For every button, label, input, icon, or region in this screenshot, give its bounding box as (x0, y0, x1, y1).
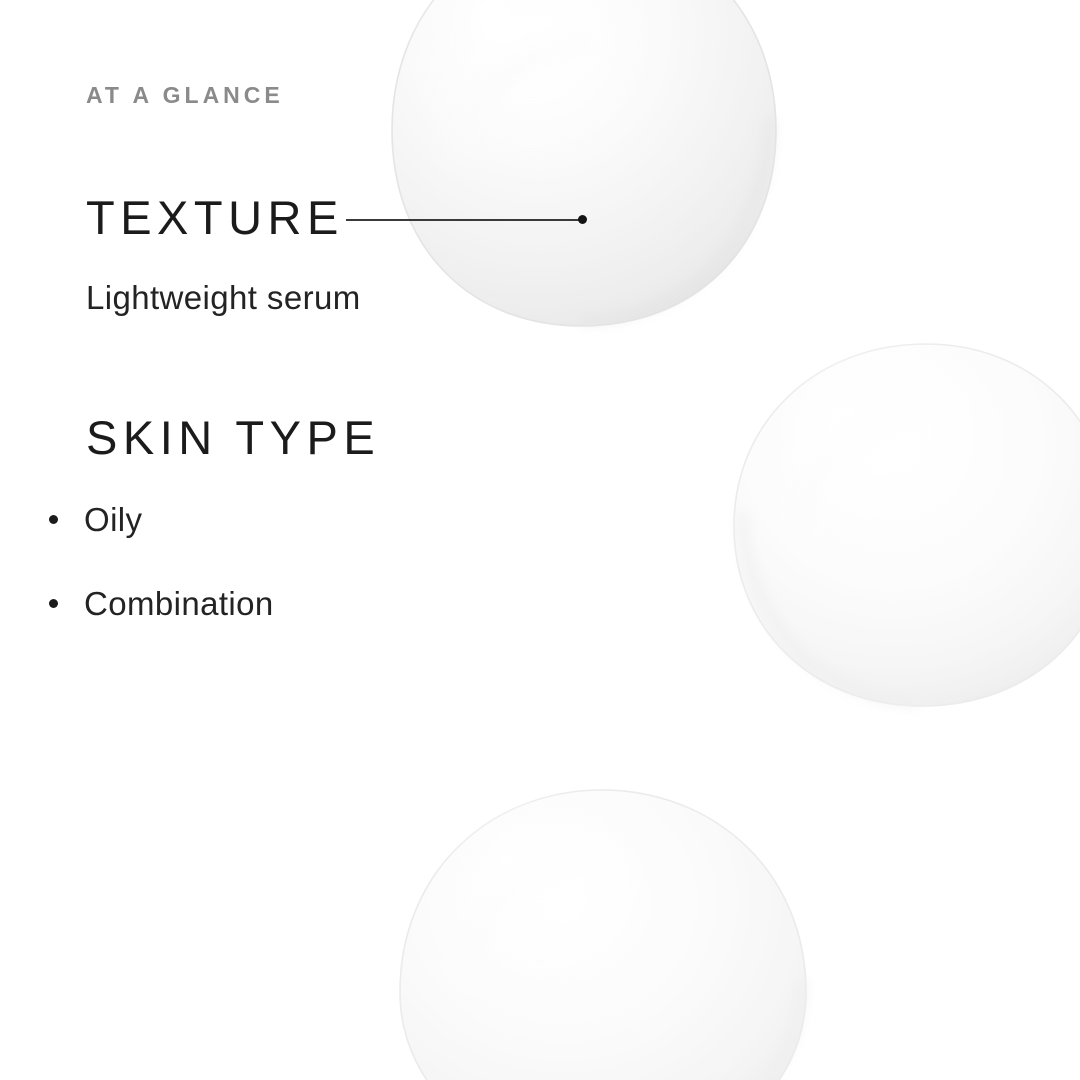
info-panel: AT A GLANCE TEXTURE Lightweight serum SK… (0, 0, 1080, 1080)
bullet-dot-icon (49, 515, 58, 524)
list-item: Combination (46, 584, 274, 624)
callout-line (346, 219, 584, 221)
list-item-label: Oily (84, 501, 142, 538)
skin-type-heading: SKIN TYPE (86, 414, 380, 461)
texture-heading: TEXTURE (86, 194, 344, 241)
texture-callout-leader (346, 219, 584, 221)
bullet-dot-icon (49, 599, 58, 608)
section-eyebrow-label: AT A GLANCE (86, 84, 284, 107)
list-item-label: Combination (84, 585, 274, 622)
list-item: Oily (46, 500, 274, 540)
texture-value: Lightweight serum (86, 280, 361, 316)
at-a-glance-card: AT A GLANCE TEXTURE Lightweight serum SK… (0, 0, 1080, 1080)
skin-type-list: Oily Combination (46, 500, 274, 623)
callout-dot-icon (578, 215, 587, 224)
